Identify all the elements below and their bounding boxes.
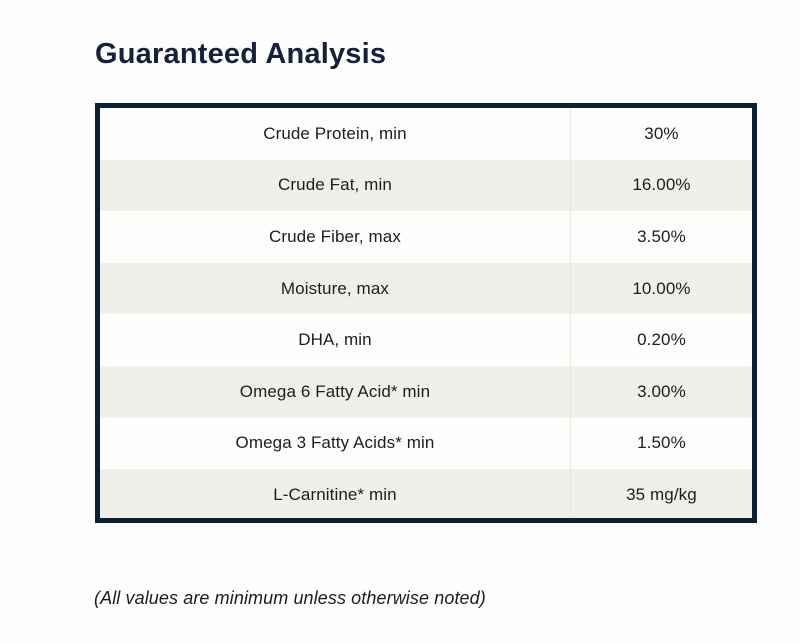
- nutrient-label: Crude Fiber, max: [100, 211, 570, 263]
- nutrient-label: Crude Protein, min: [100, 108, 570, 160]
- nutrient-value: 3.00%: [570, 366, 752, 418]
- nutrient-label: DHA, min: [100, 314, 570, 366]
- table-row: Omega 6 Fatty Acid* min 3.00%: [100, 366, 752, 418]
- table-row: Moisture, max 10.00%: [100, 263, 752, 315]
- nutrient-label: Crude Fat, min: [100, 160, 570, 212]
- nutrient-value: 1.50%: [570, 418, 752, 470]
- footnote-text: (All values are minimum unless otherwise…: [94, 588, 486, 609]
- table-row: Omega 3 Fatty Acids* min 1.50%: [100, 418, 752, 470]
- guaranteed-analysis-table: Crude Protein, min 30% Crude Fat, min 16…: [95, 103, 757, 523]
- page-title: Guaranteed Analysis: [95, 36, 386, 72]
- nutrient-value: 35 mg/kg: [570, 469, 752, 521]
- nutrient-value: 30%: [570, 108, 752, 160]
- table-row: L-Carnitine* min 35 mg/kg: [100, 469, 752, 521]
- table-row: Crude Fat, min 16.00%: [100, 160, 752, 212]
- nutrient-label: L-Carnitine* min: [100, 469, 570, 521]
- nutrition-table: Crude Protein, min 30% Crude Fat, min 16…: [100, 108, 752, 521]
- nutrient-value: 3.50%: [570, 211, 752, 263]
- nutrient-value: 10.00%: [570, 263, 752, 315]
- nutrient-value: 0.20%: [570, 314, 752, 366]
- nutrient-label: Omega 6 Fatty Acid* min: [100, 366, 570, 418]
- guaranteed-analysis-page: Guaranteed Analysis Crude Protein, min 3…: [0, 0, 800, 643]
- nutrient-label: Omega 3 Fatty Acids* min: [100, 418, 570, 470]
- nutrition-table-body: Crude Protein, min 30% Crude Fat, min 16…: [100, 108, 752, 521]
- nutrient-label: Moisture, max: [100, 263, 570, 315]
- nutrient-value: 16.00%: [570, 160, 752, 212]
- table-row: DHA, min 0.20%: [100, 314, 752, 366]
- table-row: Crude Protein, min 30%: [100, 108, 752, 160]
- table-row: Crude Fiber, max 3.50%: [100, 211, 752, 263]
